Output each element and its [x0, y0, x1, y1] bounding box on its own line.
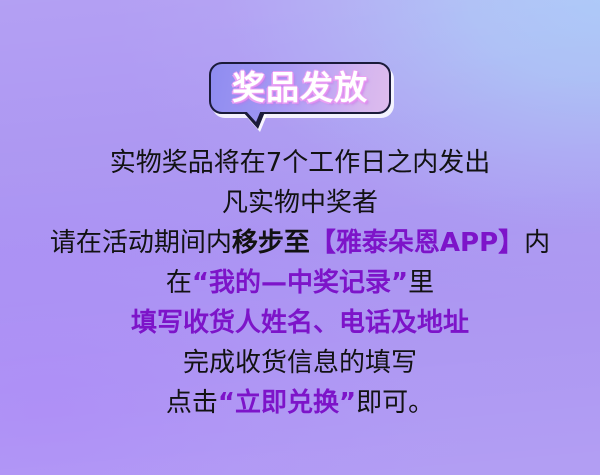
line-3-segment-4: 内 [524, 228, 550, 258]
line-3: 请在活动期间内移步至【雅泰朵恩APP】内 [0, 223, 600, 263]
line-7-segment-1: 点击 [166, 388, 218, 418]
line-6-segment-1: 完成收货信息的填写 [183, 348, 417, 378]
line-7-segment-3: 即可。 [356, 388, 434, 418]
line-1: 实物奖品将在7个工作日之内发出 [0, 143, 600, 183]
line-3-segment-2: 移步至 [232, 228, 310, 258]
badge-label: 奖品发放 [232, 71, 368, 104]
line-7-segment-2: “立即兑换” [218, 388, 356, 418]
line-4-segment-3: 里 [408, 268, 434, 298]
badge-container: 奖品发放 [0, 62, 600, 114]
line-2: 凡实物中奖者 [0, 183, 600, 223]
prize-delivery-poster: 奖品发放 实物奖品将在7个工作日之内发出凡实物中奖者请在活动期间内移步至【雅泰朵… [0, 0, 600, 475]
line-2-segment-1: 凡实物中奖者 [222, 188, 378, 218]
prize-delivery-badge: 奖品发放 [209, 62, 391, 114]
line-5: 填写收货人姓名、电话及地址 [0, 303, 600, 343]
line-3-segment-1: 请在活动期间内 [50, 228, 232, 258]
speech-bubble-tail-fill [245, 110, 261, 122]
badge-bubble: 奖品发放 [209, 62, 391, 114]
line-4: 在“我的—中奖记录”里 [0, 263, 600, 303]
line-4-segment-2: “我的—中奖记录” [192, 268, 408, 298]
line-4-segment-1: 在 [166, 268, 192, 298]
line-6: 完成收货信息的填写 [0, 343, 600, 383]
line-3-segment-3: 【雅泰朵恩APP】 [310, 228, 524, 258]
line-1-segment-1: 实物奖品将在7个工作日之内发出 [110, 148, 491, 178]
line-5-segment-1: 填写收货人姓名、电话及地址 [131, 308, 469, 338]
line-7: 点击“立即兑换”即可。 [0, 383, 600, 423]
instruction-text-block: 实物奖品将在7个工作日之内发出凡实物中奖者请在活动期间内移步至【雅泰朵恩APP】… [0, 143, 600, 423]
